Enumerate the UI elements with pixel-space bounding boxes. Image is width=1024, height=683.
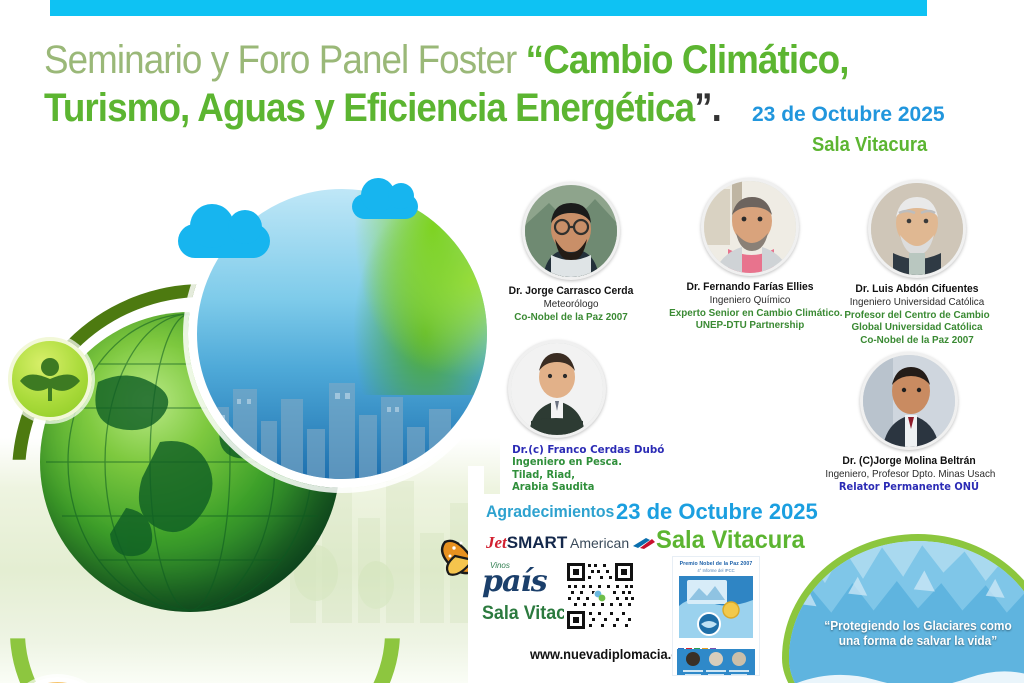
glacier-ice-icon <box>789 541 1024 683</box>
ipcc-image <box>679 576 753 638</box>
qr-code-icon[interactable] <box>564 560 636 632</box>
title-block: Seminario y Foro Panel Foster “Cambio Cl… <box>44 38 1024 82</box>
glacier-quote-line-1: “Protegiendo los Glaciares como <box>795 619 1024 634</box>
speaker-card: Dr.(c) Franco Cerdas Dubó Ingeniero en P… <box>494 340 644 494</box>
glacier-quote-line-2: una forma de salvar la vida” <box>795 634 1024 649</box>
title-line-2: Turismo, Aguas y Eficiencia Energética”. <box>44 86 721 130</box>
speaker-avatar <box>860 352 958 450</box>
speaker-extra: Arabia Saudita <box>512 481 640 494</box>
qr-code[interactable] <box>564 560 636 632</box>
speaker-extra: Relator Permanente ONÚ <box>825 481 992 494</box>
avatar-portrait-icon <box>525 185 617 277</box>
title-period: . <box>712 86 721 130</box>
speaker-extra: UNEP-DTU Partnership <box>669 319 831 332</box>
speaker-role: Ingeniero Químico <box>669 294 831 307</box>
american-eagle-icon <box>632 537 656 550</box>
ipcc-flag-strip <box>677 641 755 647</box>
speaker-avatar <box>868 180 966 278</box>
ipcc-title: Premio Nobel de la Paz 2007 <box>673 561 759 567</box>
header-venue: Sala Vitacura <box>812 134 927 157</box>
top-accent-bar <box>50 0 927 16</box>
speaker-avatar <box>701 178 799 276</box>
ipcc-subtitle: 4° Informe del IPCC <box>673 568 759 573</box>
speaker-card: Dr. Luis Abdón Cifuentes Ingeniero Unive… <box>828 180 1006 346</box>
cloud-icon <box>352 194 418 219</box>
poster-canvas: Seminario y Foro Panel Foster “Cambio Cl… <box>0 0 1024 683</box>
cloud-icon <box>178 224 270 258</box>
title-highlight-1: Cambio Climático, <box>543 38 848 82</box>
speaker-name: Dr. Jorge Carrasco Cerda <box>501 285 642 298</box>
title-open-quote: “ <box>526 38 543 82</box>
speaker-avatar <box>508 340 606 438</box>
speaker-extra: Experto Senior en Cambio Climático. <box>669 307 831 320</box>
title-prefix: Seminario y Foro Panel Foster <box>44 38 526 82</box>
american-label: American <box>570 535 629 551</box>
speaker-name: Dr. Fernando Farías Ellies <box>669 281 831 294</box>
acknowledgements-heading: Agradecimientos <box>486 502 614 522</box>
sphere-city-skyline-icon <box>197 369 487 479</box>
glacier-quote: “Protegiendo los Glaciares como una form… <box>795 619 1024 649</box>
speaker-card: Dr. Fernando Farías Ellies Ingeniero Quí… <box>664 178 836 332</box>
speaker-role: Ingeniero en Pesca. <box>512 456 640 469</box>
speaker-card: Dr. Jorge Carrasco Cerda Meteorólogo Co-… <box>496 182 646 323</box>
jetsmart-smart-text: SMART <box>507 533 567 552</box>
american-airlines-logo: American <box>570 535 656 551</box>
sponsors-date: 23 de Octubre 2025 <box>616 499 818 525</box>
speaker-extra: Tilad, Riad, <box>512 469 640 482</box>
pais-wordmark: país <box>482 564 547 599</box>
leaf-icon <box>12 341 88 417</box>
speaker-card: Dr. (C)Jorge Molina Beltrán Ingeniero, P… <box>820 352 998 493</box>
avatar-portrait-icon <box>511 343 603 435</box>
avatar-portrait-icon <box>863 355 955 447</box>
title-close-quote: ” <box>694 86 711 130</box>
sala-vitacura-heading: Sala Vitacura <box>656 526 805 555</box>
speaker-extra: Profesor del Centro de Cambio <box>833 309 1000 322</box>
header-date: 23 de Octubre 2025 <box>752 103 945 127</box>
speaker-extra: Co-Nobel de la Paz 2007 <box>501 311 642 324</box>
speaker-extra: Global Universidad Católica <box>833 321 1000 334</box>
leaf-badge-icon <box>8 337 92 421</box>
avatar-portrait-icon <box>871 183 963 275</box>
ipcc-award-card: Premio Nobel de la Paz 2007 4° Informe d… <box>672 556 760 676</box>
jetsmart-jet-text: Jet <box>486 533 507 552</box>
ipcc-glacier-collage-icon <box>679 576 753 638</box>
website-url[interactable]: www.nuevadiplomacia.cl / <box>530 646 689 662</box>
environment-artwork: Nueva Diplomacia <box>0 172 500 683</box>
speaker-name: Dr.(c) Franco Cerdas Dubó <box>512 443 640 456</box>
speaker-name: Dr. (C)Jorge Molina Beltrán <box>825 455 992 468</box>
speaker-role: Ingeniero, Profesor Dpto. Minas Usach <box>825 468 992 481</box>
speaker-avatar <box>522 182 620 280</box>
speaker-role: Meteorólogo <box>501 298 642 311</box>
speaker-name: Dr. Luis Abdón Cifuentes <box>833 283 1000 296</box>
glacier-image-circle: “Protegiendo los Glaciares como una form… <box>782 534 1024 683</box>
speaker-role: Ingeniero Universidad Católica <box>833 296 1000 309</box>
avatar-portrait-icon <box>704 181 796 273</box>
speaker-extra: Co-Nobel de la Paz 2007 <box>833 334 1000 347</box>
title-line-1: Seminario y Foro Panel Foster “Cambio Cl… <box>44 38 946 82</box>
title-highlight-2: Turismo, Aguas y Eficiencia Energética <box>44 86 694 130</box>
ipcc-speakers-strip <box>677 649 755 676</box>
ipcc-speaker-thumbs-icon <box>677 649 755 676</box>
jetsmart-logo: JetSMART <box>486 533 567 553</box>
